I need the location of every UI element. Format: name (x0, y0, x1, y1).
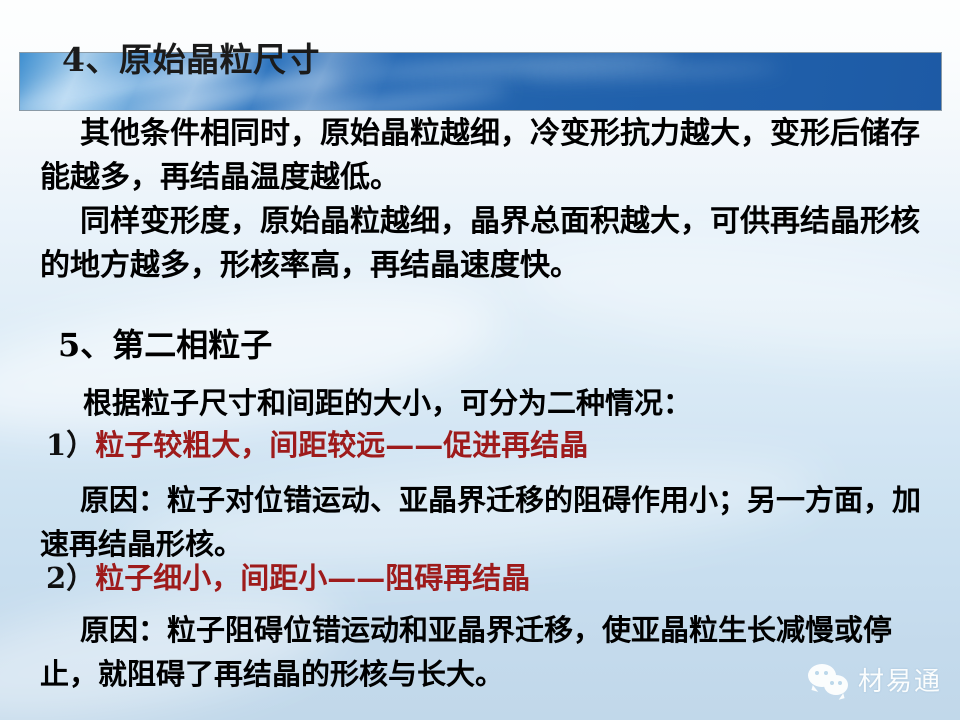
paragraph-grain-size-effect: 其他条件相同时，原始晶粒越细，冷变形抗力越大，变形后储存能越多，再结晶温度越低。 (40, 112, 936, 200)
list-item-2-text: 粒子细小，间距小——阻碍再结晶 (95, 561, 530, 595)
wechat-icon (808, 664, 850, 696)
wechat-eye (838, 681, 842, 685)
list-item-2: 2）粒子细小，间距小——阻碍再结晶 (46, 558, 530, 598)
section-heading-4: 4、原始晶粒尺寸 (62, 33, 320, 81)
presentation-slide: 4、原始晶粒尺寸 其他条件相同时，原始晶粒越细，冷变形抗力越大，变形后储存能越多… (0, 0, 960, 720)
banner-cloud-streak (520, 62, 780, 81)
list-item-2-marker: 2） (46, 561, 95, 595)
list-item-1-text: 粒子较粗大，间距较远——促进再结晶 (95, 428, 588, 462)
wechat-eye (830, 681, 834, 685)
paragraph-reason-2: 原因：粒子阻碍位错运动和亚晶界迁移，使亚晶粒生长减慢或停止，就阻碍了再结晶的形核… (40, 608, 936, 696)
watermark: 材易通 (808, 661, 942, 698)
banner-cloud-streak (230, 84, 509, 111)
paragraph-grain-boundary-area: 同样变形度，原始晶粒越细，晶界总面积越大，可供再结晶形核的地方越多，形核率高，再… (40, 200, 936, 288)
watermark-label: 材易通 (858, 661, 942, 698)
wechat-eye (815, 671, 819, 675)
paragraph-reason-1: 原因：粒子对位错运动、亚晶界迁移的阻碍作用小；另一方面，加速再结晶形核。 (40, 478, 936, 566)
list-item-1: 1）粒子较粗大，间距较远——促进再结晶 (46, 425, 588, 465)
wechat-eye (824, 671, 828, 675)
banner-cloud-streak (350, 52, 680, 82)
paragraph-two-cases-intro: 根据粒子尺寸和间距的大小，可分为二种情况： (55, 382, 935, 425)
section-heading-5: 5、第二相粒子 (58, 320, 272, 366)
wechat-bubble-small (824, 675, 848, 695)
list-item-1-marker: 1） (46, 428, 95, 462)
